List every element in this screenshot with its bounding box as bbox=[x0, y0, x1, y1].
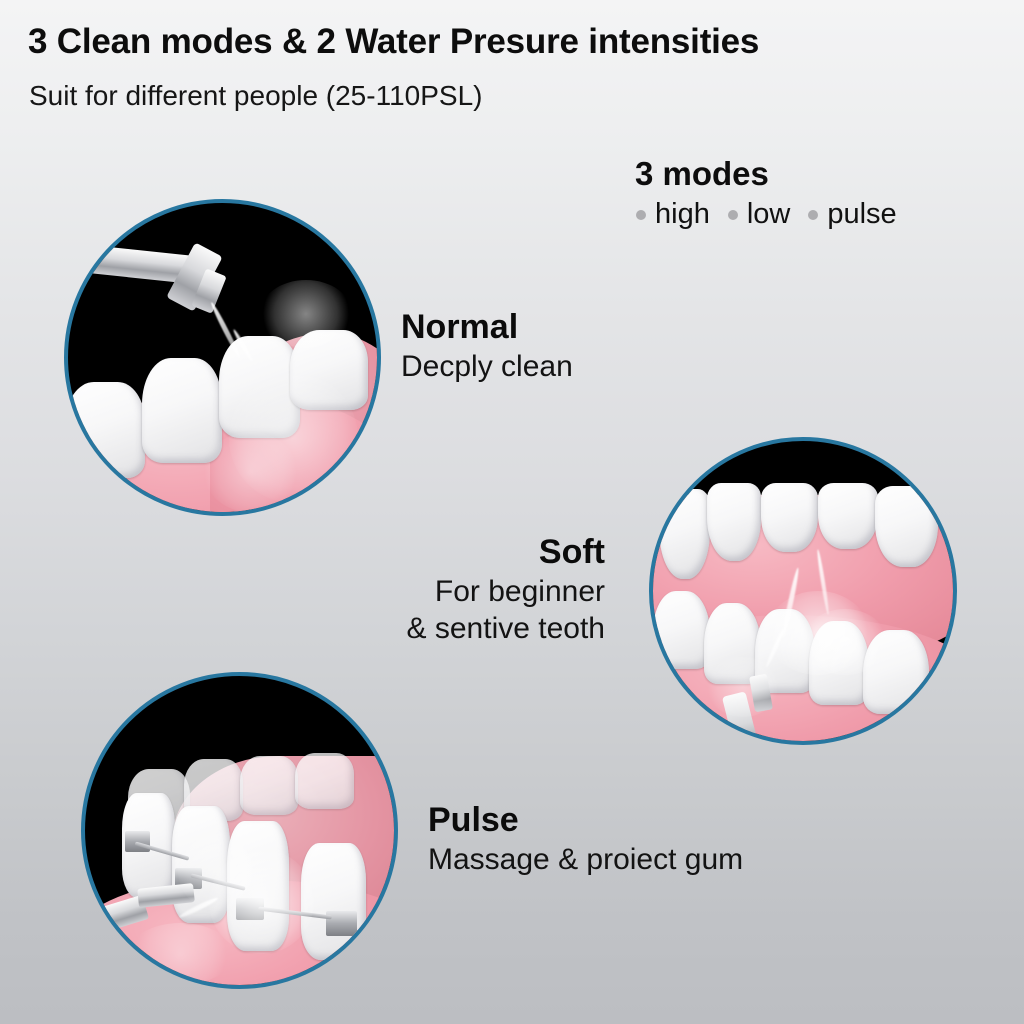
page-subtitle: Suit for different people (25-110PSL) bbox=[29, 80, 482, 112]
mode-chip-low: low bbox=[728, 200, 791, 229]
infographic-poster: 3 Clean modes & 2 Water Presure intensit… bbox=[0, 0, 1024, 1024]
mode-label-high: high bbox=[655, 200, 710, 229]
feature-desc-soft-line1: For beginner bbox=[330, 575, 605, 609]
feature-desc-pulse: Massage & proiect gum bbox=[428, 843, 743, 877]
page-title: 3 Clean modes & 2 Water Presure intensit… bbox=[28, 22, 759, 62]
bullet-dot-icon bbox=[808, 210, 818, 220]
illustration-normal-mode bbox=[68, 203, 377, 512]
feature-caption-pulse: Pulse Massage & proiect gum bbox=[428, 803, 743, 876]
feature-title-normal: Normal bbox=[401, 310, 573, 346]
modes-list: high low pulse bbox=[636, 200, 897, 229]
illustration-pulse-mode bbox=[85, 676, 394, 985]
feature-image-pulse bbox=[81, 672, 398, 989]
feature-image-normal bbox=[64, 199, 381, 516]
bullet-dot-icon bbox=[728, 210, 738, 220]
mode-chip-pulse: pulse bbox=[808, 200, 896, 229]
mode-label-pulse: pulse bbox=[827, 200, 896, 229]
mode-label-low: low bbox=[747, 200, 791, 229]
feature-desc-normal: Decply clean bbox=[401, 350, 573, 384]
feature-title-pulse: Pulse bbox=[428, 803, 743, 839]
mode-chip-high: high bbox=[636, 200, 710, 229]
feature-caption-normal: Normal Decply clean bbox=[401, 310, 573, 383]
illustration-soft-mode bbox=[653, 441, 953, 741]
feature-title-soft: Soft bbox=[330, 535, 605, 571]
feature-caption-soft: Soft For beginner & sentive teoth bbox=[330, 535, 605, 646]
modes-panel-title: 3 modes bbox=[635, 155, 769, 193]
feature-image-soft bbox=[649, 437, 957, 745]
feature-desc-soft-line2: & sentive teoth bbox=[330, 612, 605, 646]
bullet-dot-icon bbox=[636, 210, 646, 220]
